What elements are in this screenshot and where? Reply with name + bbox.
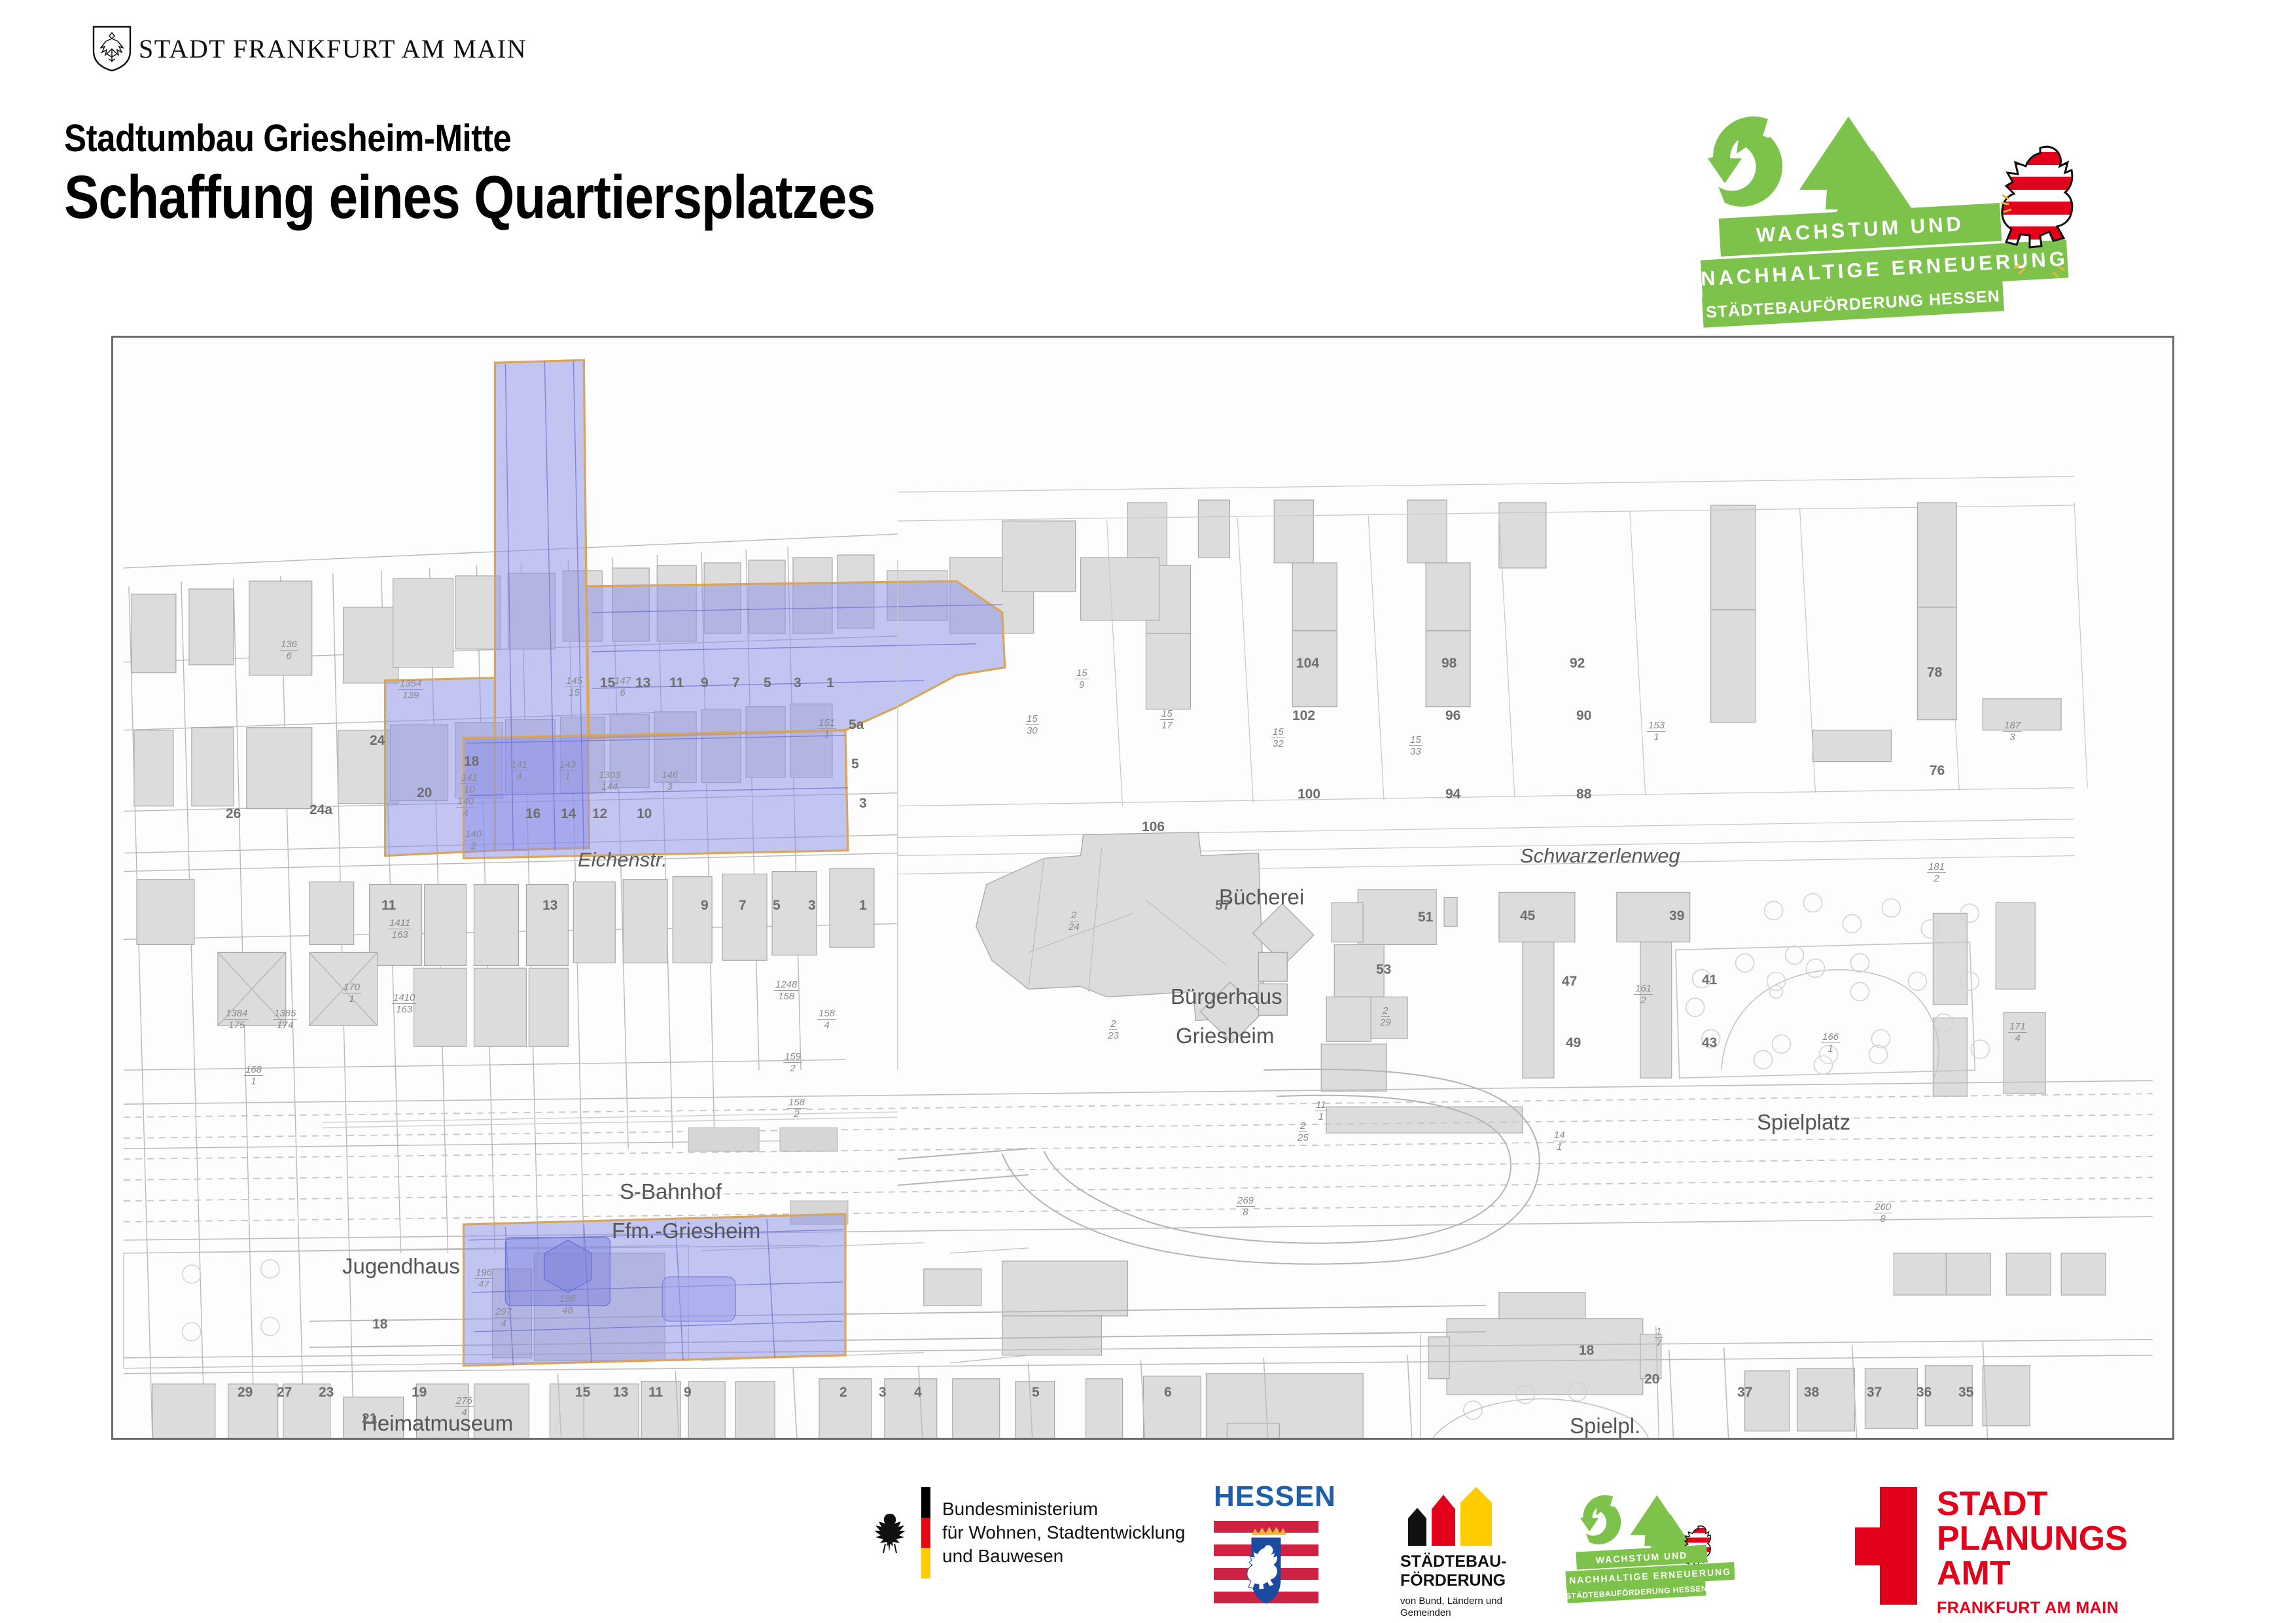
federal-eagle-icon [870, 1510, 910, 1556]
cadastral-map[interactable]: Eichenstr.SchwarzerlenwegAm Gemeindegart… [111, 336, 2174, 1440]
stadtplanungsamt-mark-icon [1855, 1487, 1917, 1605]
german-flag-bar-icon [921, 1487, 930, 1578]
wachstum-erneuerung-logo-small: WACHSTUM UND NACHHALTIGE ERNEUERUNG STÄD… [1580, 1491, 1776, 1609]
spa-line-1: STADT [1937, 1487, 2128, 1522]
city-of-frankfurt-logo: STADT FRANKFURT AM MAIN [92, 25, 527, 72]
poster-title: Schaffung eines Quartiersplatzes [64, 162, 875, 232]
hessen-wordmark: HESSEN [1214, 1480, 1318, 1513]
hessen-state-logo: HESSEN [1214, 1480, 1318, 1618]
bmwsb-line-2: für Wohnen, Stadtentwicklung [942, 1522, 1185, 1543]
wachstum-erneuerung-logo: WACHSTUM UND NACHHALTIGE ERNEUERUNG STÄD… [1708, 111, 2127, 334]
bmwsb-logo: Bundesministerium für Wohnen, Stadtentwi… [870, 1487, 1185, 1578]
three-houses-icon [1400, 1486, 1551, 1546]
stadtplanungsamt-logo: STADT PLANUNGS AMT FRANKFURT AM MAIN [1855, 1487, 2128, 1617]
staedtebau-line-1: STÄDTEBAU- [1400, 1552, 1507, 1571]
hessen-flag-with-arms-icon [1214, 1517, 1318, 1618]
bmwsb-line-1: Bundesministerium [942, 1499, 1098, 1519]
bmwsb-line-3: und Bauwesen [942, 1546, 1063, 1566]
funding-logo-strip: Bundesministerium für Wohnen, Stadtentwi… [0, 1472, 2296, 1623]
bmwsb-wordmark: Bundesministerium für Wohnen, Stadtentwi… [942, 1497, 1185, 1567]
stadtplanungsamt-wordmark: STADT PLANUNGS AMT FRANKFURT AM MAIN [1937, 1487, 2128, 1617]
spa-line-2: PLANUNGS [1937, 1522, 2128, 1556]
spa-line-4: FRANKFURT AM MAIN [1937, 1600, 2128, 1617]
frankfurt-eagle-crest-icon [92, 25, 132, 72]
spa-line-3: AMT [1937, 1556, 2128, 1591]
staedtebaufoerderung-logo: STÄDTEBAU- FÖRDERUNG von Bund, Ländern u… [1400, 1486, 1551, 1620]
staedtebau-line-2: FÖRDERUNG [1400, 1571, 1506, 1590]
poster-page: STADT FRANKFURT AM MAIN Stadtumbau Gries… [0, 0, 2296, 1623]
staedtebau-sublabel: von Bund, Ländern und Gemeinden [1400, 1596, 1551, 1620]
staedtebau-label: STÄDTEBAU- FÖRDERUNG [1400, 1552, 1551, 1590]
city-logo-wordmark: STADT FRANKFURT AM MAIN [139, 33, 527, 64]
staedtebau-sub-2: Gemeinden [1400, 1607, 1451, 1618]
hessen-lion-icon [1989, 136, 2094, 287]
map-drawing [113, 338, 2172, 1438]
poster-subtitle: Stadtumbau Griesheim-Mitte [64, 116, 511, 160]
staedtebau-sub-1: von Bund, Ländern und [1400, 1596, 1502, 1607]
